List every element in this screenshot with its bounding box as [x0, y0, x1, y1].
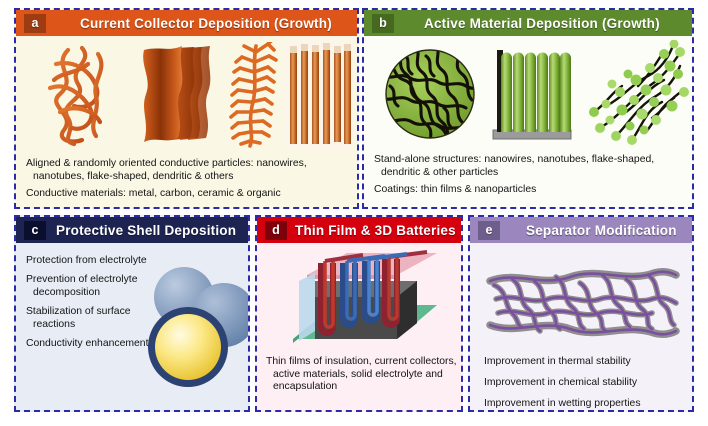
panel-a: a Current Collector Deposition (Growth) — [14, 8, 359, 209]
panel-a-bullet-1: Aligned & randomly oriented conductive p… — [26, 158, 352, 183]
decorated-dendrite-icon — [586, 40, 690, 148]
panel-d-body: Thin films of insulation, current collec… — [257, 243, 461, 410]
panel-e-bullet-2: Improvement in chemical stability — [484, 376, 690, 389]
panel-d-bullet-1: Thin films of insulation, current collec… — [266, 356, 458, 394]
panel-b: b Active Material Deposition (Growth) — [362, 8, 694, 209]
panel-b-header: b Active Material Deposition (Growth) — [364, 10, 692, 36]
panel-d-badge: d — [265, 221, 287, 240]
panel-d-bullets: Thin films of insulation, current collec… — [266, 356, 458, 394]
3d-battery-stack-icon — [285, 247, 445, 355]
panel-a-body: Aligned & randomly oriented conductive p… — [16, 36, 357, 207]
figure-canvas: a Current Collector Deposition (Growth) — [0, 0, 708, 426]
panel-d: d Thin Film & 3D Batteries — [255, 215, 463, 412]
panel-c-body: Protection from electrolyte Prevention o… — [16, 243, 248, 410]
panel-e-badge: e — [478, 221, 500, 240]
panel-c-bullet-2: Prevention of electrolyte decomposition — [26, 274, 151, 299]
panel-a-title: Current Collector Deposition (Growth) — [80, 16, 332, 31]
panel-a-badge: a — [24, 14, 46, 33]
panel-d-title: Thin Film & 3D Batteries — [295, 223, 456, 238]
aligned-rods-icon — [284, 40, 354, 150]
panel-e-bullet-1: Improvement in thermal stability — [484, 355, 690, 368]
panel-c: c Protective Shell Deposition — [14, 215, 250, 412]
panel-a-bullets: Aligned & randomly oriented conductive p… — [26, 158, 352, 201]
panel-d-header: d Thin Film & 3D Batteries — [257, 217, 461, 243]
panel-b-body: Stand-alone structures: nanowires, nanot… — [364, 36, 692, 207]
panel-b-bullet-1: Stand-alone structures: nanowires, nanot… — [374, 154, 686, 179]
panel-c-bullets: Protection from electrolyte Prevention o… — [26, 255, 151, 357]
porous-sphere-icon — [382, 44, 478, 144]
panel-c-bullet-3: Stabilization of surface reactions — [26, 306, 151, 331]
dendritic-branch-icon — [224, 42, 284, 150]
panel-a-bullet-2: Conductive materials: metal, carbon, cer… — [26, 188, 352, 201]
panel-e-header: e Separator Modification — [470, 217, 692, 243]
panel-b-bullets: Stand-alone structures: nanowires, nanot… — [374, 154, 686, 197]
panel-e-body: Improvement in thermal stability Improve… — [470, 243, 692, 410]
panel-c-bullet-4: Conductivity enhancement — [26, 338, 151, 350]
panel-c-badge: c — [24, 221, 46, 240]
panel-c-title: Protective Shell Deposition — [56, 223, 236, 238]
panel-e: e Separator Modification — [468, 215, 694, 412]
panel-b-title: Active Material Deposition (Growth) — [424, 16, 660, 31]
panel-e-bullets: Improvement in thermal stability Improve… — [484, 355, 690, 412]
panel-c-bullet-1: Protection from electrolyte — [26, 255, 151, 267]
panel-b-bullet-2: Coatings: thin films & nanoparticles — [374, 184, 686, 197]
core-shell-particles-icon — [138, 261, 250, 401]
panel-a-header: a Current Collector Deposition (Growth) — [16, 10, 357, 36]
panel-b-badge: b — [372, 14, 394, 33]
porous-separator-membrane-icon — [486, 261, 680, 345]
stacked-flakes-icon — [134, 42, 220, 150]
panel-c-header: c Protective Shell Deposition — [16, 217, 248, 243]
nanotube-array-icon — [486, 44, 578, 144]
panel-e-bullet-3: Improvement in wetting properties — [484, 397, 690, 410]
tangled-nanowires-icon — [38, 44, 126, 149]
panel-e-title: Separator Modification — [526, 223, 677, 238]
